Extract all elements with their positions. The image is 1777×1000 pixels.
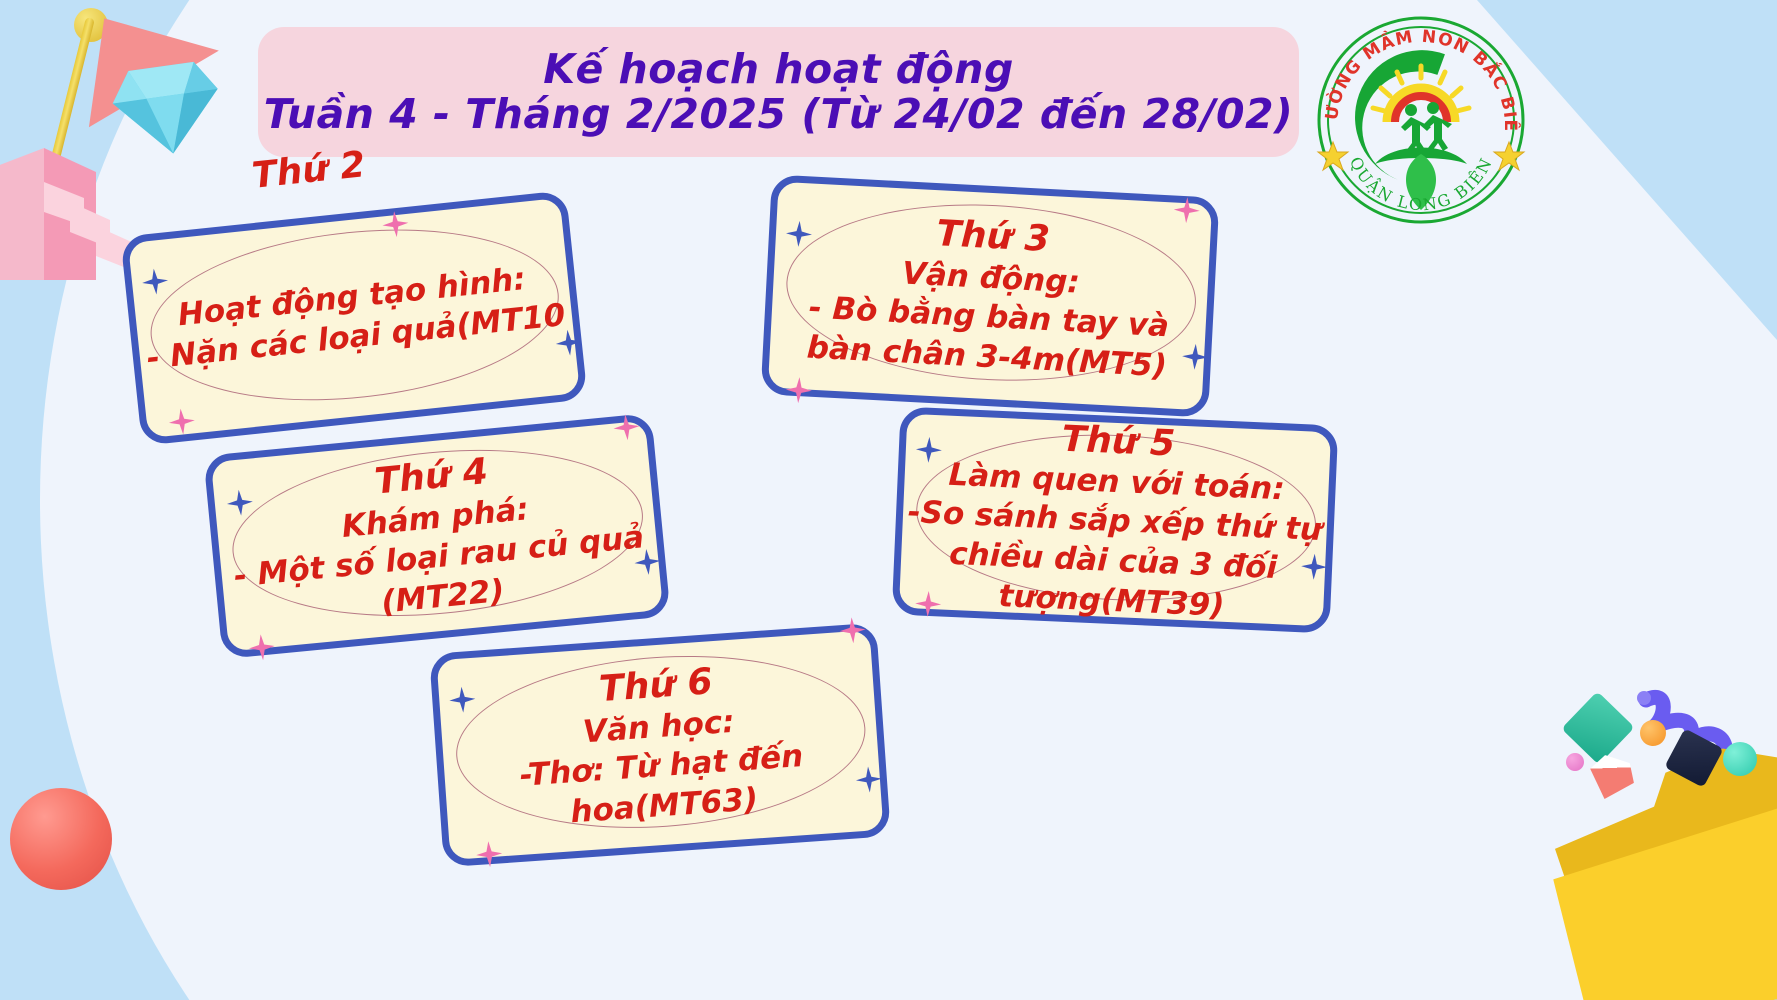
activity-card-tuesday[interactable]: Thứ 3 Vận động: - Bò bằng bàn tay và bàn… bbox=[761, 174, 1220, 417]
card-text-wednesday: Thứ 4 Khám phá: - Một số loại rau củ quả… bbox=[211, 421, 663, 652]
teal-ball-icon bbox=[1723, 742, 1757, 776]
poster-canvas: Kế hoạch hoạt động Tuần 4 - Tháng 2/2025… bbox=[0, 0, 1777, 1000]
card-text-monday: Hoạt động tạo hình: - Nặn các loại quả(M… bbox=[128, 198, 580, 438]
card-text-friday: Thứ 6 Văn học: -Thơ: Từ hạt đến hoa(MT63… bbox=[437, 630, 884, 860]
card-day-label: Thứ 5 bbox=[1061, 416, 1176, 467]
activity-card-wednesday[interactable]: Thứ 4 Khám phá: - Một số loại rau củ quả… bbox=[203, 413, 670, 659]
card-text-thursday: Thứ 5 Làm quen với toán: -So sánh sắp xế… bbox=[899, 414, 1331, 626]
red-sphere-icon bbox=[10, 788, 112, 890]
school-logo: TRƯỜNG MẦM NON BẮC BIÊN QUẬN LONG BIÊN bbox=[1315, 14, 1527, 226]
card-text-tuesday: Thứ 3 Vận động: - Bò bằng bàn tay và bàn… bbox=[768, 182, 1212, 410]
activity-card-friday[interactable]: Thứ 6 Văn học: -Thơ: Từ hạt đến hoa(MT63… bbox=[429, 623, 891, 868]
banner-line-1: Kế hoạch hoạt động bbox=[543, 48, 1014, 91]
banner-line-2: Tuần 4 - Tháng 2/2025 (Từ 24/02 đến 28/0… bbox=[264, 93, 1294, 136]
title-banner: Kế hoạch hoạt động Tuần 4 - Tháng 2/2025… bbox=[258, 27, 1299, 157]
card-line: tượng(MT39) bbox=[998, 577, 1225, 626]
activity-card-thursday[interactable]: Thứ 5 Làm quen với toán: -So sánh sắp xế… bbox=[892, 407, 1339, 634]
